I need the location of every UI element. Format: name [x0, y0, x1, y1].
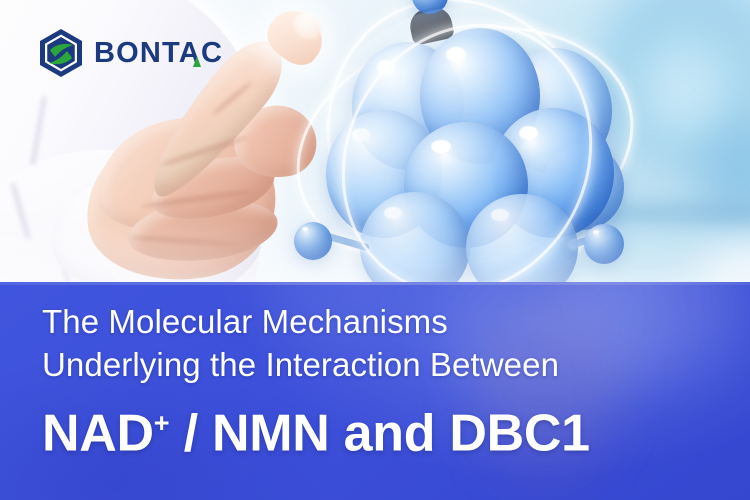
title-nmn-dbc1-text: / NMN and DBC1 — [170, 404, 590, 462]
background-blur-blob — [700, 230, 750, 290]
title-line-2: Underlying the Interaction Between — [42, 343, 710, 386]
brand-logo[interactable]: BONTAC — [38, 28, 223, 78]
molecule-model — [300, 0, 640, 286]
title-plus-superscript: + — [154, 408, 170, 438]
title-line-1: The Molecular Mechanisms — [42, 300, 710, 343]
molecule-atom-small — [294, 222, 332, 260]
logo-green-accent-icon — [193, 56, 201, 67]
promo-banner-card: BONTAC The Molecular Mechanisms Underlyi… — [0, 0, 750, 500]
banner-top-edge — [0, 282, 750, 285]
background-blur-blob — [640, 40, 730, 140]
title-block: The Molecular Mechanisms Underlying the … — [42, 300, 710, 464]
bontac-hexagon-leaf-icon — [38, 28, 84, 78]
title-main-line: NAD+ / NMN and DBC1 — [42, 392, 710, 464]
title-nad-text: NAD — [42, 404, 154, 462]
background-blur-blob — [690, 120, 750, 280]
molecule-atom-small — [584, 224, 624, 264]
title-banner: The Molecular Mechanisms Underlying the … — [0, 282, 750, 500]
brand-wordmark: BONTAC — [94, 39, 223, 68]
brand-name-text: BONTAC — [94, 37, 223, 69]
